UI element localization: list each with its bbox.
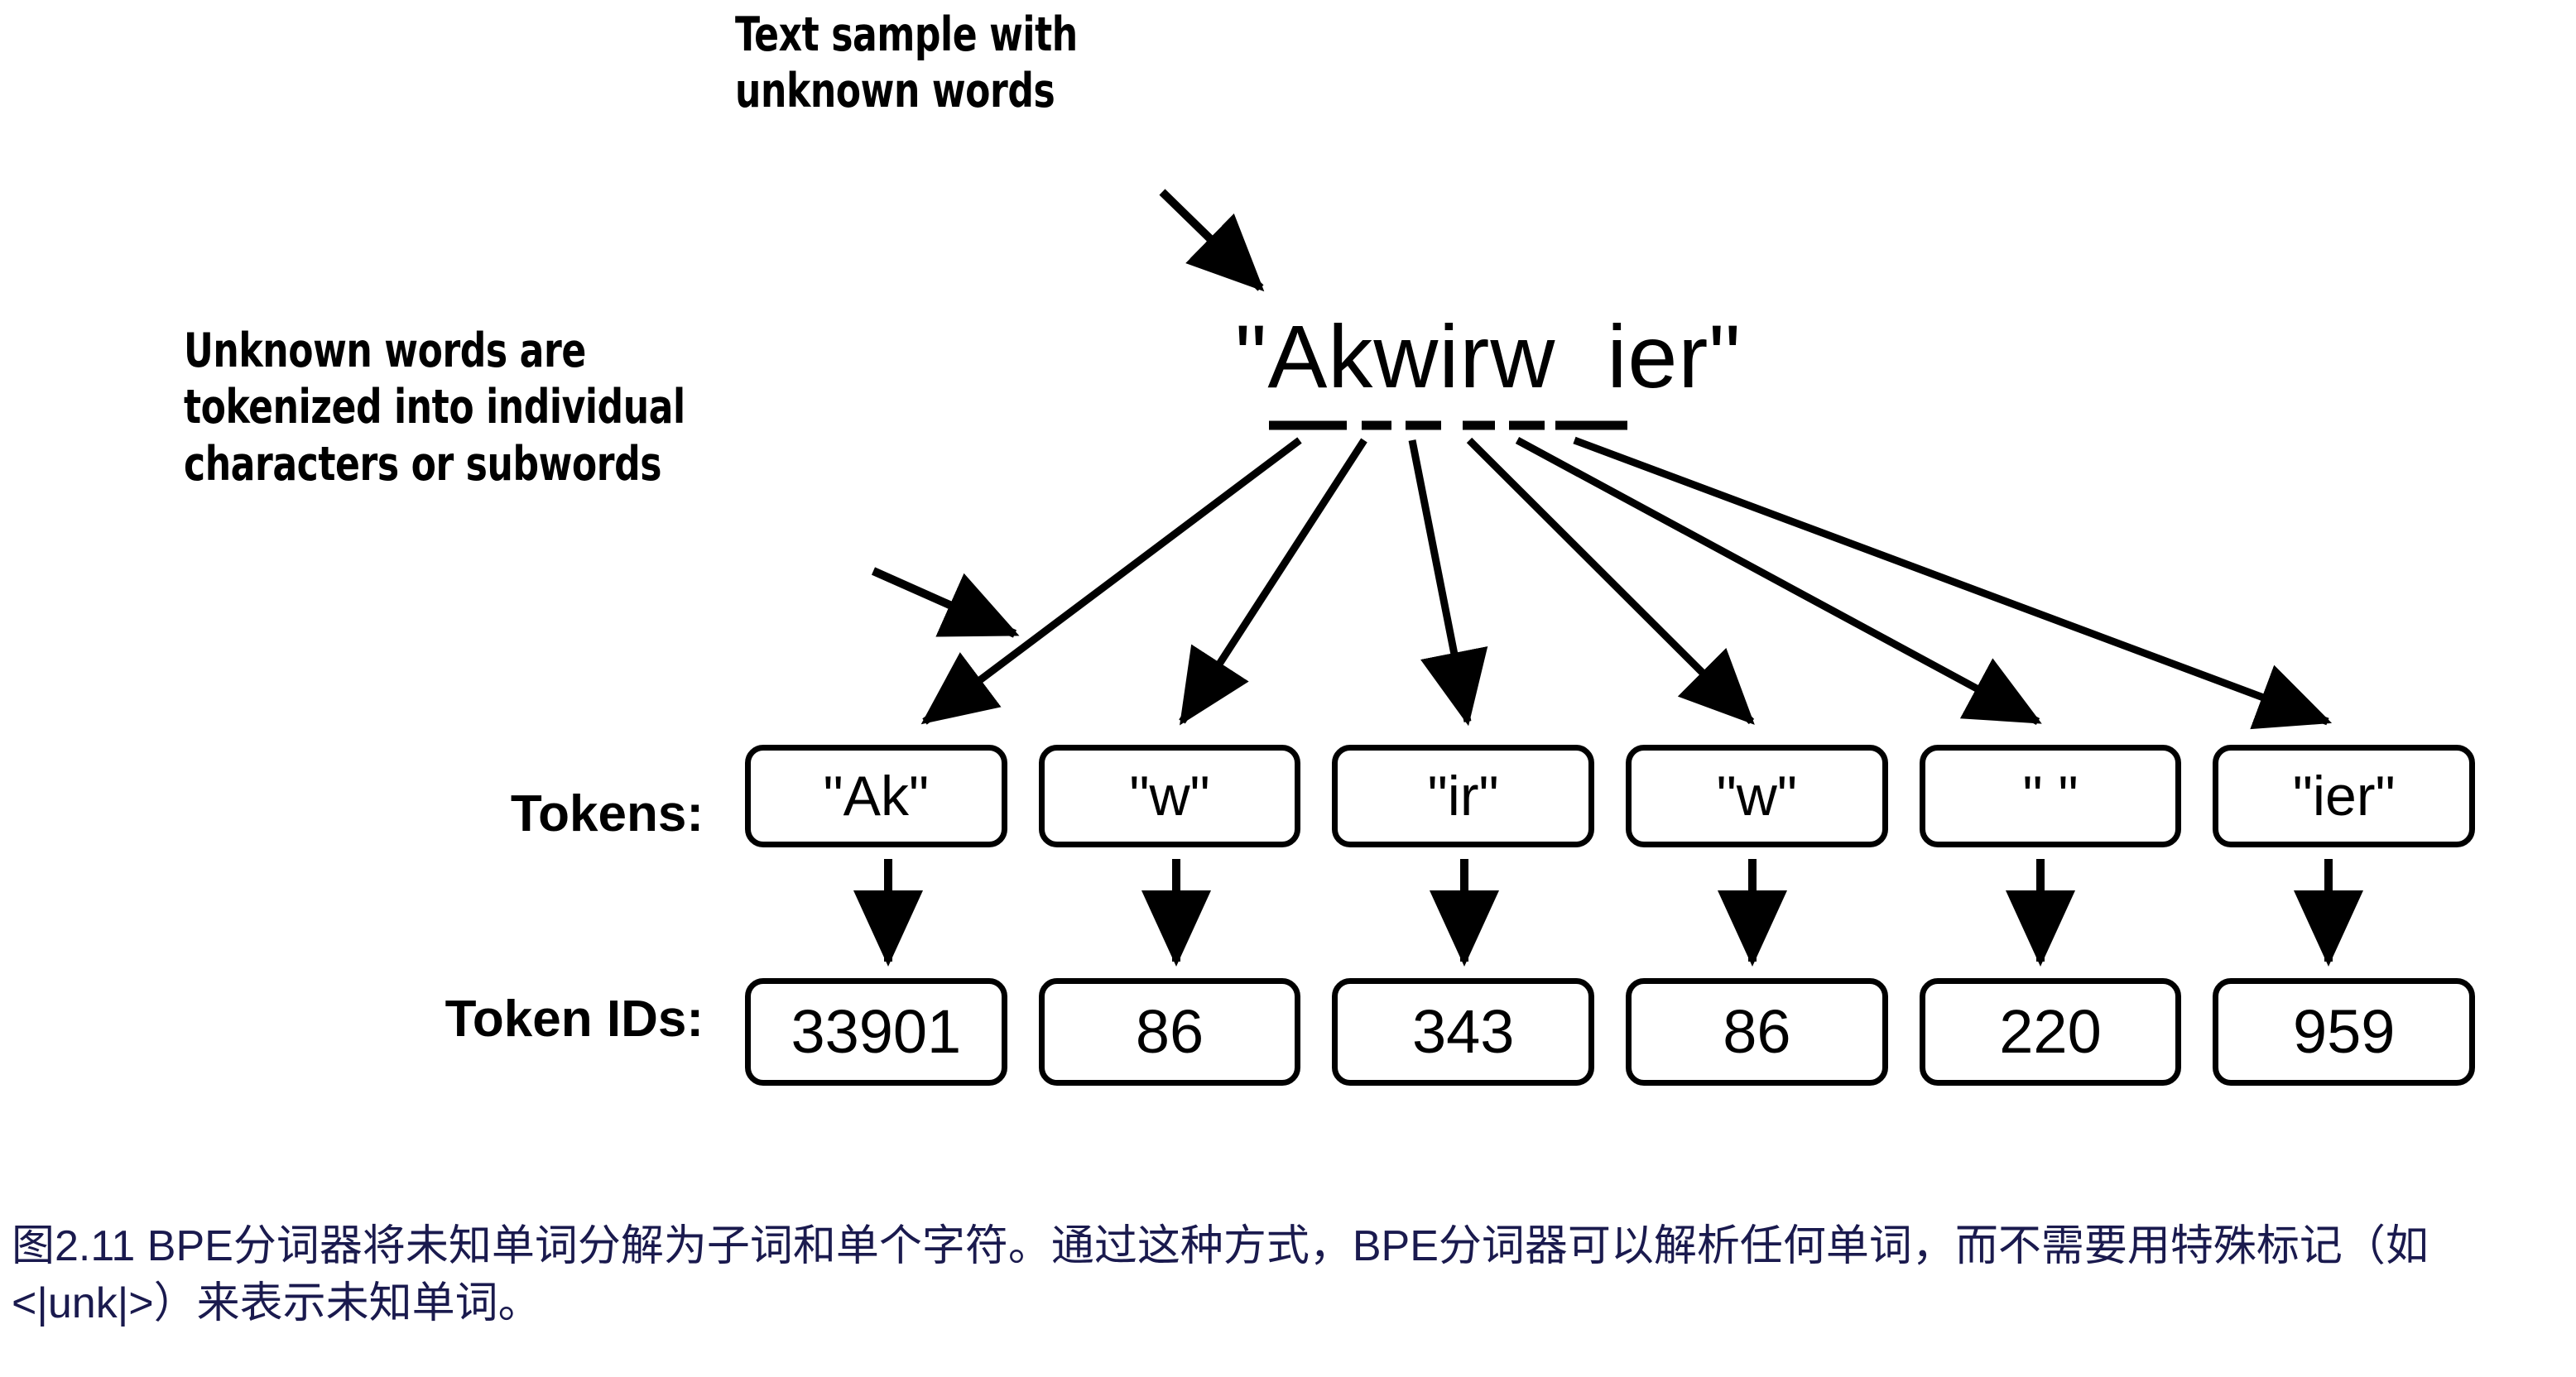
token-text: "w" bbox=[1717, 768, 1797, 824]
token-id-box: 86 bbox=[1039, 978, 1301, 1086]
figure-caption: 图2.11 BPE分词器将未知单词分解为子词和单个字符。通过这种方式，BPE分词… bbox=[12, 1218, 2561, 1331]
token-box: "ier" bbox=[2213, 745, 2475, 847]
token-box: "ir" bbox=[1332, 745, 1594, 847]
source-text-string: "Akwirw ier" bbox=[1235, 305, 1742, 408]
token-id-box: 959 bbox=[2213, 978, 2475, 1086]
token-id-text: 959 bbox=[2293, 1001, 2395, 1063]
token-id-text: 33901 bbox=[791, 1001, 961, 1063]
token-text: " " bbox=[2022, 768, 2078, 824]
token-id-box: 343 bbox=[1332, 978, 1594, 1086]
fan-arrow-1 bbox=[925, 440, 1300, 722]
token-id-box: 86 bbox=[1626, 978, 1888, 1086]
token-id-text: 86 bbox=[1723, 1001, 1790, 1063]
annotation-unknown-words: Unknown words are tokenized into individ… bbox=[184, 323, 824, 492]
token-to-id-arrows bbox=[888, 859, 2328, 962]
token-id-box: 220 bbox=[1920, 978, 2182, 1086]
token-text: "Ak" bbox=[824, 768, 930, 824]
arrow-sample-note bbox=[1162, 192, 1261, 288]
fan-arrow-6 bbox=[1574, 440, 2328, 722]
fan-arrow-3 bbox=[1412, 440, 1468, 722]
token-id-text: 343 bbox=[1412, 1001, 1514, 1063]
annotation-text-sample: Text sample with unknown words bbox=[735, 7, 1233, 120]
token-box: "Ak" bbox=[745, 745, 1007, 847]
fan-arrow-5 bbox=[1517, 440, 2038, 722]
token-box: "w" bbox=[1626, 745, 1888, 847]
fan-arrow-4 bbox=[1469, 440, 1752, 722]
fan-arrow-2 bbox=[1182, 440, 1364, 722]
token-ids-row-label: Token IDs: bbox=[235, 990, 704, 1048]
token-id-text: 220 bbox=[1999, 1001, 2101, 1063]
token-ids-row: 33901 86 343 86 220 959 bbox=[745, 978, 2475, 1086]
figure-canvas: Text sample with unknown words Unknown w… bbox=[0, 0, 2576, 1377]
token-box: "w" bbox=[1039, 745, 1301, 847]
token-text: "ier" bbox=[2293, 768, 2396, 824]
fan-arrows bbox=[925, 440, 2328, 722]
token-text: "w" bbox=[1129, 768, 1209, 824]
tokens-row: "Ak" "w" "ir" "w" " " "ier" bbox=[745, 745, 2475, 847]
arrow-unknown-note bbox=[873, 571, 1015, 634]
token-id-box: 33901 bbox=[745, 978, 1007, 1086]
tokens-row-label: Tokens: bbox=[290, 784, 704, 843]
arrow-overlay bbox=[0, 0, 2576, 1377]
token-box: " " bbox=[1920, 745, 2182, 847]
token-id-text: 86 bbox=[1136, 1001, 1204, 1063]
token-text: "ir" bbox=[1428, 768, 1499, 824]
